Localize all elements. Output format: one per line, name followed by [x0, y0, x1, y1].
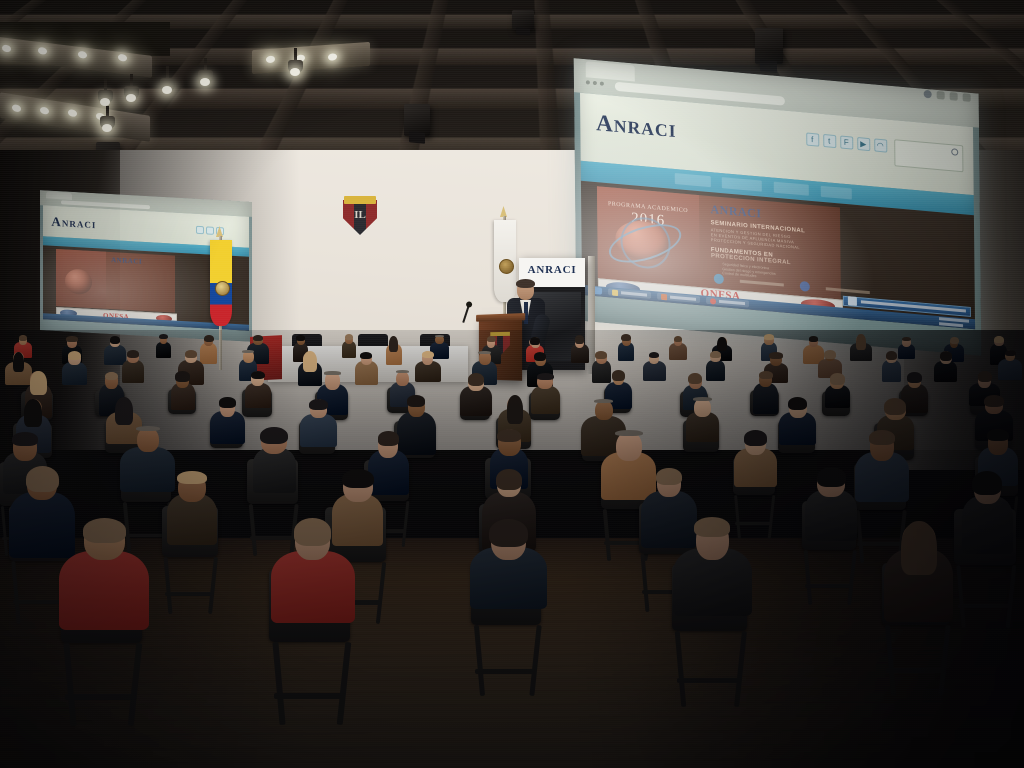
audience-hair: [710, 351, 721, 358]
audience-hair: [110, 336, 121, 344]
audience-hair: [68, 351, 81, 360]
audience-person: [156, 342, 171, 358]
audience-hair: [769, 352, 783, 358]
audience-hair: [12, 432, 38, 446]
chair-crossbar: [677, 678, 741, 683]
chair-leg: [641, 554, 650, 612]
main-projection-screen: ANRACI f t F ▶ ◠: [574, 58, 982, 356]
audience-hair: [105, 372, 118, 381]
audience-hair: [744, 430, 767, 445]
audience-hair: [478, 351, 491, 354]
audience-hair: [612, 370, 625, 381]
audience-hair: [422, 351, 434, 358]
emblem-monogram: IL: [354, 208, 366, 222]
audience-hair: [127, 350, 139, 358]
conference-hall-photo: IL ANRACI: [0, 0, 1024, 768]
audience-hair: [260, 427, 288, 445]
chair-leg: [336, 642, 350, 725]
audience-hair: [764, 334, 774, 339]
chair-leg: [128, 643, 143, 727]
audience-hair: [717, 337, 727, 351]
audience-person: [998, 359, 1022, 380]
audience-hair: [940, 351, 953, 361]
audience-person: [59, 551, 149, 629]
audience-person: [245, 383, 271, 408]
audience-hair: [856, 334, 866, 350]
audience-hair: [242, 350, 254, 352]
chair-crossbar: [124, 534, 167, 538]
chair-leg: [734, 631, 747, 707]
audience-person: [200, 343, 217, 364]
chair-leg: [939, 625, 951, 695]
audience-hair: [489, 519, 527, 547]
audience-hair: [869, 430, 895, 445]
audience-hair: [219, 397, 235, 407]
audience-hair: [309, 399, 328, 410]
audience-hair: [656, 468, 683, 486]
audience-person: [300, 414, 336, 447]
audience-hair: [649, 352, 660, 358]
chair-leg: [272, 642, 285, 725]
audience-hair: [389, 336, 398, 352]
institution-shield-emblem: IL: [343, 195, 377, 235]
audience-hair: [950, 337, 958, 344]
audience-hair: [621, 334, 631, 341]
audience-hair: [185, 350, 198, 358]
audience-hair: [1005, 350, 1016, 356]
audience-hair: [66, 336, 77, 341]
audience-hair: [159, 334, 168, 339]
chair-leg: [856, 510, 864, 563]
audience-hair: [345, 334, 353, 340]
audience-person: [962, 496, 1013, 554]
audience-hair: [24, 399, 42, 427]
audience-hair: [360, 352, 372, 359]
audience-hair: [830, 373, 845, 384]
chair-crossbar: [13, 600, 66, 604]
chair-leg: [529, 625, 541, 697]
audience-hair: [253, 335, 263, 341]
audience-hair: [817, 467, 846, 487]
audience-hair: [886, 351, 898, 360]
audience-hair: [693, 397, 712, 401]
chair-crossbar: [475, 669, 535, 674]
audience-hair: [978, 371, 992, 382]
audience-hair: [19, 335, 28, 341]
audience-hair: [902, 337, 912, 342]
audience-hair: [507, 395, 523, 424]
audience-person: [643, 361, 666, 381]
chair-leg: [734, 495, 741, 539]
audience-hair: [204, 335, 214, 342]
chair-leg: [474, 625, 485, 697]
audience-hair: [496, 469, 521, 490]
audience-hair: [884, 398, 906, 415]
chair-leg: [885, 625, 896, 695]
audience-hair: [595, 351, 607, 359]
audience-person: [253, 448, 296, 493]
audience-hair: [824, 350, 836, 358]
audience-hair: [468, 373, 484, 386]
audience-hair: [342, 469, 374, 489]
chair-crossbar: [274, 693, 344, 699]
chair-crossbar: [805, 584, 852, 588]
audience-hair: [759, 371, 773, 379]
audience-hair: [575, 335, 585, 343]
audience-hair: [987, 429, 1009, 441]
audience-hair: [615, 430, 643, 436]
chair-leg: [675, 631, 687, 707]
audience-hair: [907, 372, 922, 383]
chair-crossbar: [65, 694, 135, 700]
chair-leg: [1, 506, 9, 556]
audience-hair: [694, 517, 730, 537]
audience-hair: [688, 373, 702, 384]
audience-hair: [994, 336, 1005, 343]
audience-person: [641, 491, 698, 548]
audience-hair: [396, 370, 409, 373]
ceiling-speaker-center: [404, 104, 430, 136]
chair-leg: [63, 643, 76, 727]
audience-hair: [378, 431, 400, 445]
audience-hair: [534, 352, 546, 361]
chair-leg: [376, 562, 387, 625]
audience-person: [753, 383, 779, 413]
audience-hair: [83, 518, 127, 543]
audience-hair: [487, 336, 496, 342]
chair-crossbar: [735, 522, 772, 525]
seated-audience: [0, 330, 1024, 768]
audience-hair: [530, 337, 540, 345]
chair-crossbar: [958, 604, 1011, 608]
chair-crossbar: [857, 542, 902, 546]
audience-hair: [972, 471, 1002, 496]
chair-leg: [1005, 565, 1016, 628]
audience-hair: [251, 371, 265, 379]
audience-hair: [175, 371, 190, 381]
chair-leg: [847, 550, 857, 605]
audience-person: [706, 360, 726, 381]
audience-hair: [296, 335, 305, 340]
chair-leg: [11, 561, 21, 624]
chair-crossbar: [250, 536, 294, 540]
audience-hair: [674, 336, 682, 342]
chair-leg: [208, 557, 218, 614]
audience-hair: [497, 429, 521, 443]
chair-crossbar: [886, 668, 945, 673]
chair-leg: [164, 557, 173, 614]
audience-person: [271, 551, 355, 623]
audience-hair: [30, 371, 47, 395]
audience-hair: [809, 336, 819, 341]
audience-hair: [136, 426, 160, 431]
audience-person: [934, 361, 957, 382]
audience-hair: [324, 371, 340, 375]
colombia-coat-of-arms: [215, 281, 230, 296]
audience-hair: [115, 397, 133, 425]
audience-person: [104, 345, 125, 365]
chair-leg: [402, 501, 410, 547]
chair-leg: [956, 565, 966, 628]
audience-person: [9, 492, 75, 558]
audience-person: [882, 360, 901, 382]
ceiling-projector: [512, 10, 534, 30]
audience-hair: [594, 399, 614, 403]
chair-leg: [768, 495, 776, 539]
audience-hair: [26, 466, 59, 492]
chair-leg: [603, 509, 611, 561]
audience-hair: [407, 395, 425, 407]
audience-hair: [788, 397, 807, 410]
institution-seal: [499, 259, 514, 274]
audience-hair: [435, 335, 445, 337]
audience-hair: [303, 351, 317, 372]
ceiling-speaker-right: [755, 28, 783, 64]
audience-person: [122, 360, 144, 383]
chair-leg: [249, 504, 257, 556]
chair-crossbar: [165, 592, 213, 596]
audience-person: [805, 490, 858, 542]
audience-hair: [901, 521, 937, 575]
audience-person: [531, 386, 560, 415]
rollup-logo: ANRACI: [519, 264, 585, 276]
audience-hair: [294, 518, 332, 546]
audience-hair: [984, 395, 1004, 407]
audience-person: [120, 447, 175, 492]
audience-hair: [13, 352, 24, 372]
audience-hair: [177, 471, 207, 485]
audience-person: [62, 362, 88, 386]
chair-leg: [804, 550, 813, 605]
audience-person: [397, 412, 436, 456]
audience-hair: [537, 373, 554, 380]
